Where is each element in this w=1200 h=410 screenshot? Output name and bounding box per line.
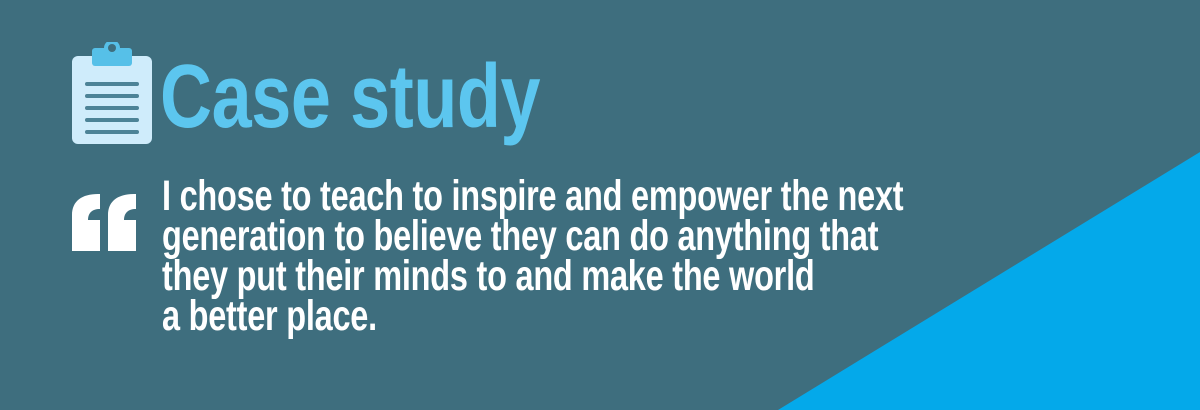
open-quote-icon bbox=[70, 193, 138, 253]
heading-row: Case study bbox=[160, 52, 635, 144]
clipboard-clip-ring-hole bbox=[108, 44, 116, 52]
quote-line: I chose to teach to inspire and empower … bbox=[162, 176, 811, 216]
quote-glyph-right bbox=[108, 194, 136, 251]
page-title: Case study bbox=[160, 59, 540, 136]
quote-line: generation to believe they can do anythi… bbox=[162, 216, 811, 256]
quote-line: a better place. bbox=[162, 296, 811, 336]
quote-text-block: I chose to teach to inspire and empower … bbox=[162, 176, 1022, 336]
case-study-banner: Case study I chose to teach to inspire a… bbox=[0, 0, 1200, 410]
quote-line: they put their minds to and make the wor… bbox=[162, 256, 811, 296]
quote-glyph-left bbox=[72, 194, 100, 251]
clipboard-icon bbox=[68, 42, 156, 146]
